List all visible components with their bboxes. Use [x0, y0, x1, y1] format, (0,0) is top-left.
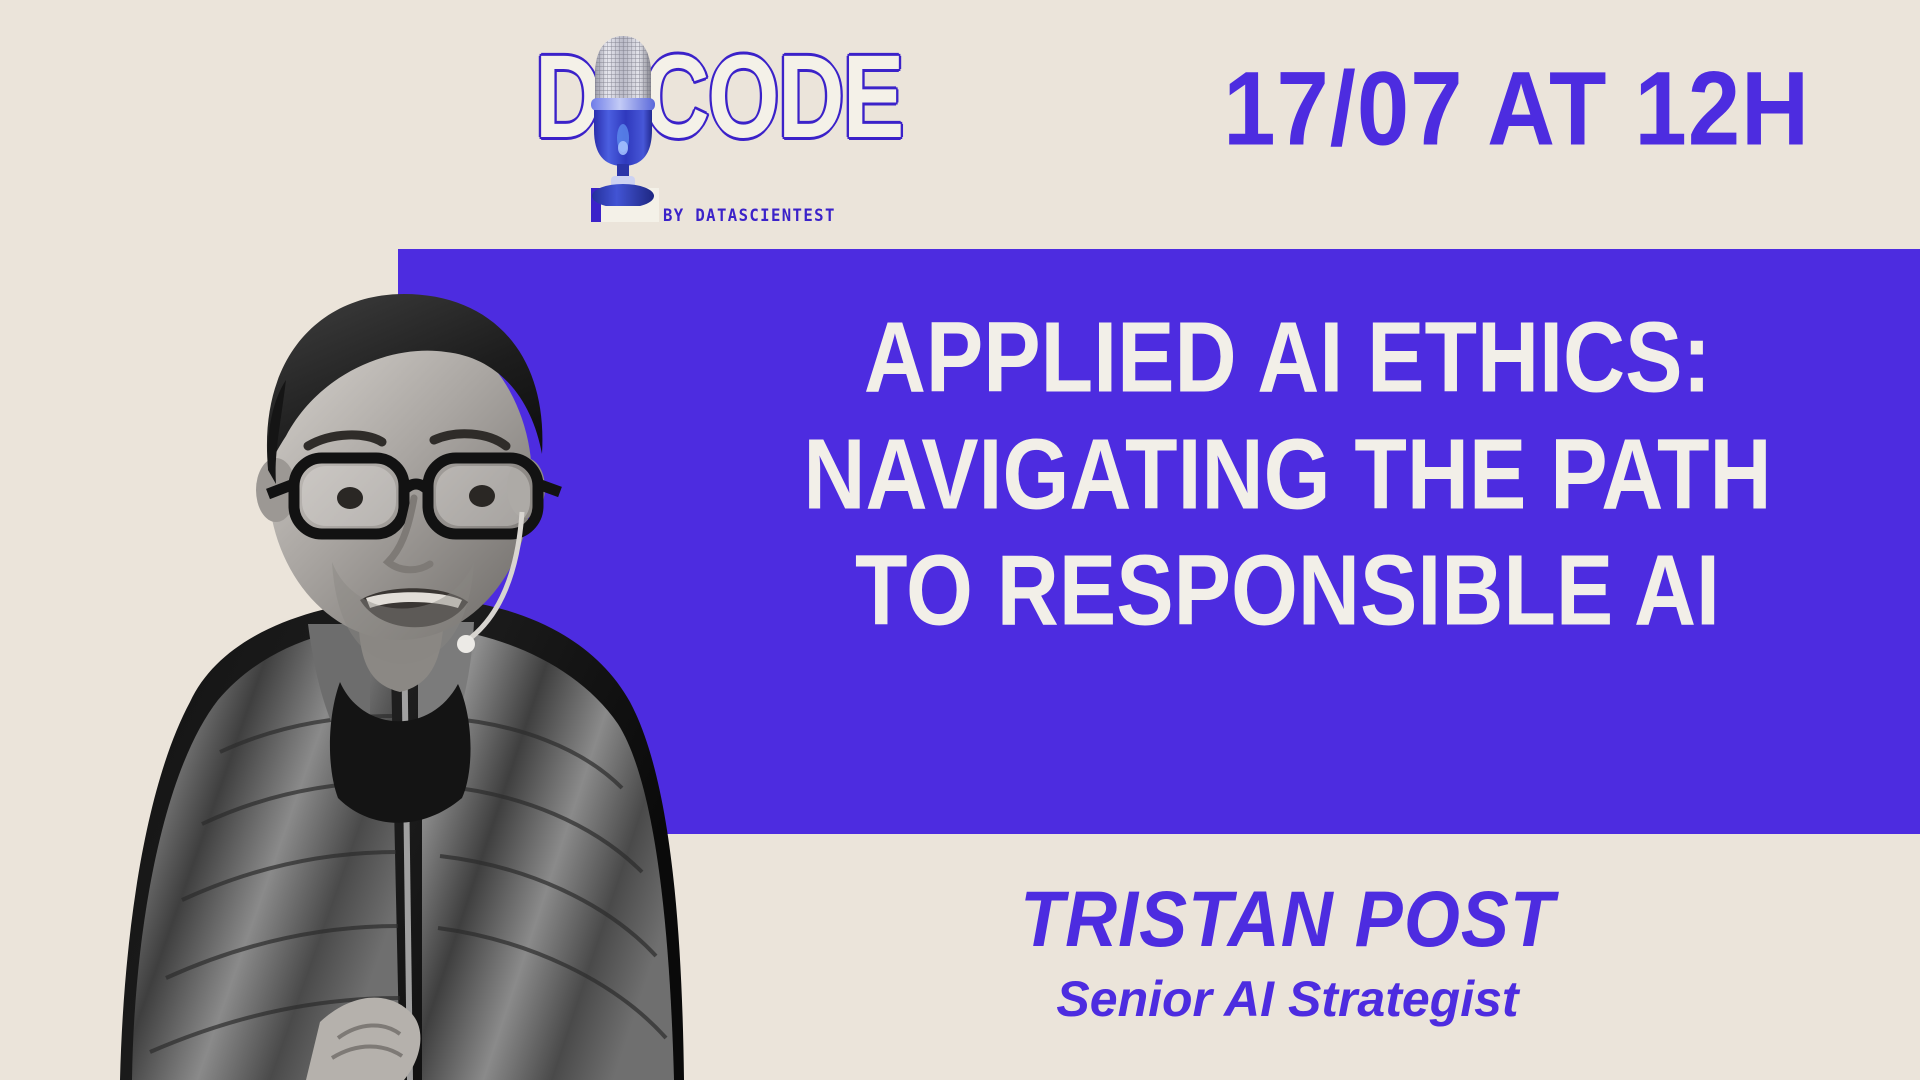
title-line-2: NAVIGATING THE PATH — [700, 417, 1875, 534]
speaker-photo — [70, 232, 770, 1080]
event-date: 17/07 AT 12H — [1223, 56, 1810, 161]
webinar-banner: D CODE — [0, 0, 1920, 1080]
speaker-role: Senior AI Strategist — [700, 974, 1875, 1024]
logo-wordmark: D CODE — [535, 38, 895, 178]
logo-letters-code: CODE — [643, 38, 903, 156]
title-line-3: TO RESPONSIBLE AI — [700, 533, 1875, 650]
speaker-info: TRISTAN POST Senior AI Strategist — [700, 880, 1875, 1024]
logo-tagline: BY DATASCIENTEST — [663, 206, 836, 226]
title-line-1: APPLIED AI ETHICS: — [700, 300, 1875, 417]
talk-title: APPLIED AI ETHICS: NAVIGATING THE PATH T… — [700, 300, 1875, 650]
dcode-logo[interactable]: D CODE — [535, 38, 895, 228]
speaker-name: TRISTAN POST — [700, 880, 1875, 959]
microphone-icon — [587, 30, 659, 206]
